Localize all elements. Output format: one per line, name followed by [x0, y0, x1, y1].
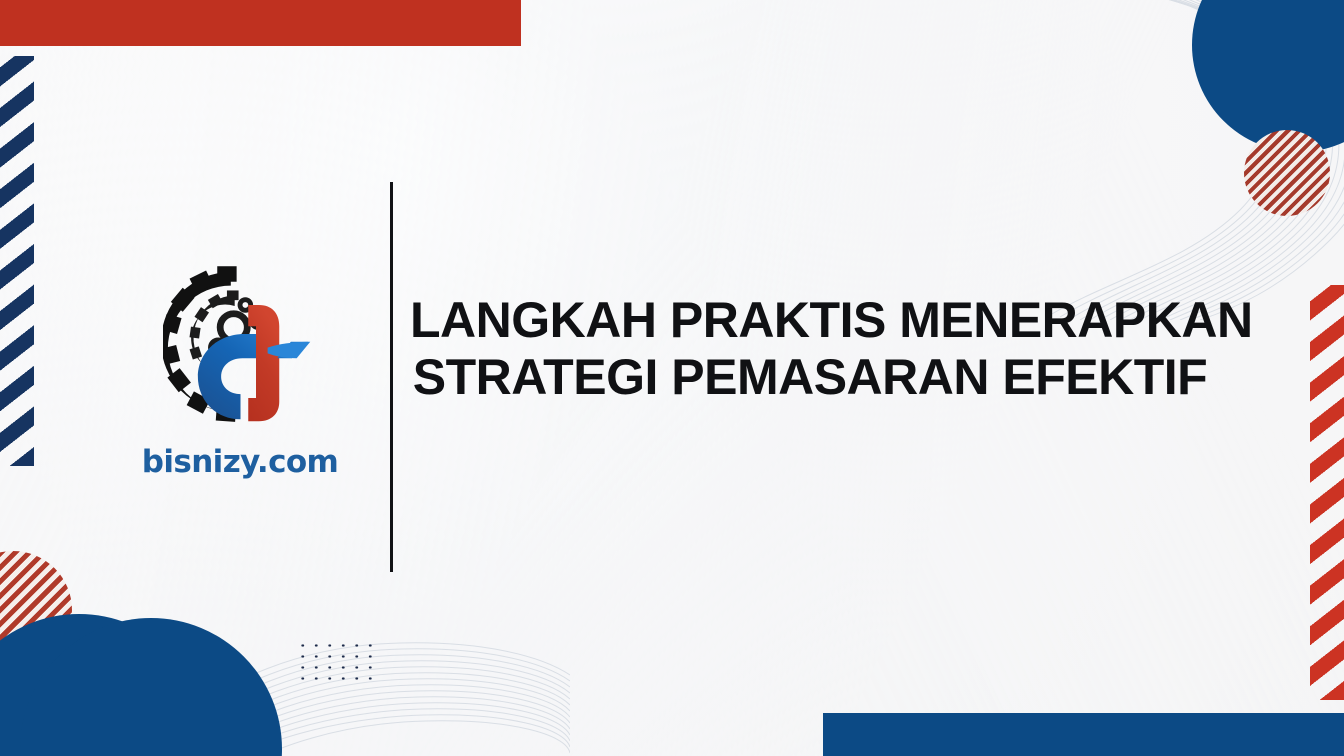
left-navy-diagonal-stripes: [0, 56, 34, 466]
right-red-diagonal-stripes: [1310, 285, 1344, 700]
page-title-line-2: STRATEGI PEMASARAN EFEKTIF: [410, 349, 1210, 406]
dot-grid-decoration: [296, 640, 378, 684]
page-title: LANGKAH PRAKTIS MENERAPKAN STRATEGI PEMA…: [410, 292, 1210, 406]
vertical-divider: [390, 182, 393, 572]
bottom-right-navy-bar: [823, 713, 1344, 756]
page-title-line-1: LANGKAH PRAKTIS MENERAPKAN: [410, 292, 1210, 349]
top-right-red-striped-circle: [1244, 130, 1330, 216]
banner-canvas: bisnizy.com LANGKAH PRAKTIS MENERAPKAN S…: [0, 0, 1344, 756]
bisnizy-gear-logo-icon: [163, 266, 318, 436]
brand-wordmark: bisnizy.com: [140, 444, 340, 480]
brand-logo-block: bisnizy.com: [140, 266, 340, 480]
top-red-bar: [0, 0, 521, 46]
